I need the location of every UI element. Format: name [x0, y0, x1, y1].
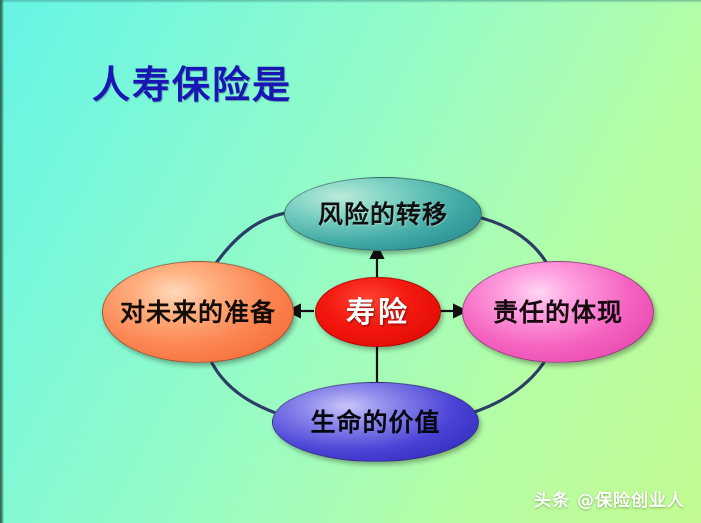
- diagram-node-top[interactable]: 风险的转移: [284, 177, 482, 251]
- diagram-node-bottom[interactable]: 生命的价值: [272, 382, 479, 462]
- diagram-node-bottom-label: 生命的价值: [310, 410, 440, 435]
- diagram-node-left-label: 对未来的准备: [120, 300, 276, 325]
- diagram-node-top-label: 风险的转移: [318, 202, 448, 227]
- slide-canvas: 人寿保险是 风险的转移 对未来的准备 责任的体现 生命的价值: [0, 0, 701, 523]
- diagram-node-left[interactable]: 对未来的准备: [102, 261, 294, 363]
- diagram-node-right-label: 责任的体现: [493, 300, 623, 325]
- diagram-node-right[interactable]: 责任的体现: [462, 261, 654, 363]
- ring-link-left-top: [214, 212, 292, 266]
- watermark: 头条 @保险创业人: [534, 486, 685, 511]
- ring-link-bottom-left: [209, 357, 284, 416]
- diagram-node-center[interactable]: 寿险: [315, 277, 441, 347]
- ring-link-right-bottom: [468, 356, 548, 414]
- ring-link-top-right: [474, 216, 546, 262]
- diagram-node-center-label: 寿险: [346, 298, 410, 327]
